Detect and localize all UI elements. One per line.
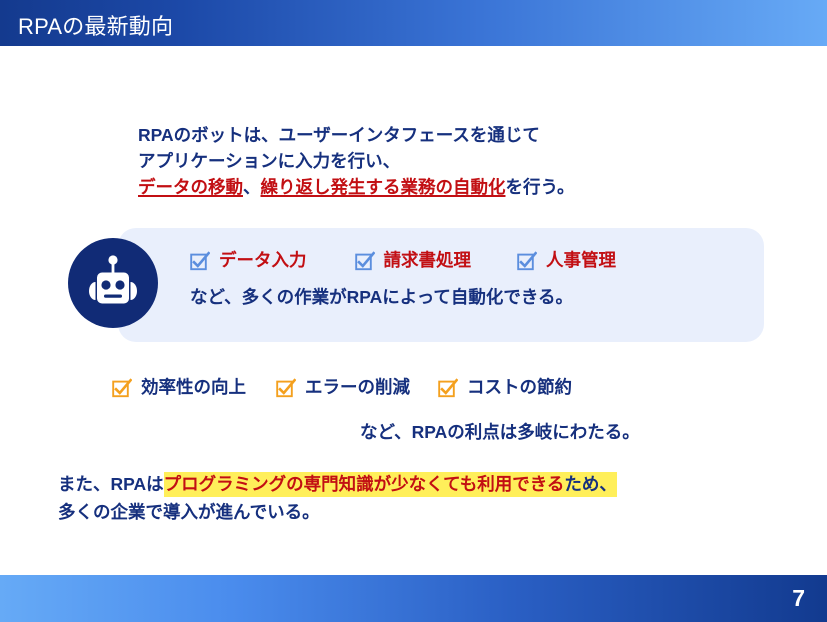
benefit-item-efficiency: 効率性の向上 xyxy=(112,377,246,397)
benefit-label: コストの節約 xyxy=(467,377,572,397)
intro-paragraph: RPAのボットは、ユーザーインタフェースを通じて アプリケーションに入力を行い、… xyxy=(138,122,738,200)
benefits-summary: など、RPAの利点は多岐にわたる。 xyxy=(360,419,640,444)
checkbox-checked-blue-icon xyxy=(190,251,210,271)
robot-icon xyxy=(68,238,158,328)
checkbox-checked-blue-icon xyxy=(517,251,537,271)
task-label: 人事管理 xyxy=(546,250,616,270)
intro-emphasis-repetitive-automation: 繰り返し発生する業務の自動化 xyxy=(261,177,506,197)
closing-highlight-tail: ため、 xyxy=(564,472,617,497)
closing-paragraph: また、RPAはプログラミングの専門知識が少なくても利用できるため、 多くの企業で… xyxy=(58,470,798,526)
page-title: RPAの最新動向 xyxy=(18,9,173,41)
benefit-label: 効率性の向上 xyxy=(141,377,246,397)
intro-line-2: アプリケーションに入力を行い、 xyxy=(138,148,738,174)
slide-body: RPAのボットは、ユーザーインタフェースを通じて アプリケーションに入力を行い、… xyxy=(0,46,827,575)
benefit-item-error-reduction: エラーの削減 xyxy=(276,377,410,397)
task-label: 請求書処理 xyxy=(384,250,472,270)
benefit-item-cost-saving: コストの節約 xyxy=(438,377,572,397)
checkbox-checked-orange-icon xyxy=(276,378,296,398)
closing-highlight-no-programming: プログラミングの専門知識が少なくても利用できる xyxy=(164,472,565,497)
intro-line-3-tail: を行う。 xyxy=(506,177,575,197)
automation-tasks-summary: など、多くの作業がRPAによって自動化できる。 xyxy=(190,285,760,309)
automation-tasks-content: データ入力 請求書処理 人事管理 xyxy=(190,245,760,309)
closing-line-2: 多くの企業で導入が進んでいる。 xyxy=(58,498,798,526)
task-item-invoice-processing: 請求書処理 xyxy=(355,250,472,270)
task-label: データ入力 xyxy=(219,250,307,270)
intro-line-3: データの移動、繰り返し発生する業務の自動化を行う。 xyxy=(138,174,738,200)
slide-footer-bar: 7 xyxy=(0,575,827,622)
closing-line-1-head: また、RPAは xyxy=(58,474,164,494)
automation-task-list: データ入力 請求書処理 人事管理 xyxy=(190,245,760,275)
checkbox-checked-blue-icon xyxy=(355,251,375,271)
checkbox-checked-orange-icon xyxy=(112,378,132,398)
benefit-label: エラーの削減 xyxy=(305,377,410,397)
task-item-hr-management: 人事管理 xyxy=(517,250,616,270)
slide-header-bar: RPAの最新動向 xyxy=(0,0,827,46)
intro-emphasis-data-transfer: データの移動 xyxy=(138,177,243,197)
page-number: 7 xyxy=(792,585,805,612)
intro-separator: 、 xyxy=(243,177,261,197)
task-item-data-entry: データ入力 xyxy=(190,250,307,270)
closing-line-1: また、RPAはプログラミングの専門知識が少なくても利用できるため、 xyxy=(58,470,798,498)
checkbox-checked-orange-icon xyxy=(438,378,458,398)
benefit-list: 効率性の向上 エラーの削減 コストの節約 xyxy=(112,373,572,401)
intro-line-1: RPAのボットは、ユーザーインタフェースを通じて xyxy=(138,122,738,148)
